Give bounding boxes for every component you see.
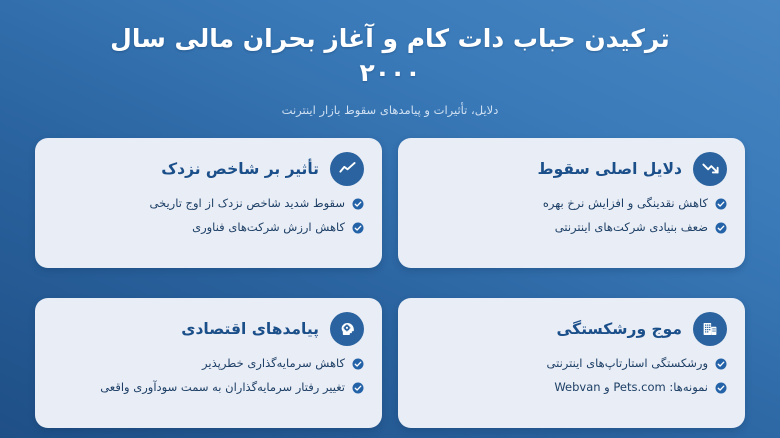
list-item: تغییر رفتار سرمایه‌گذاران به سمت سودآوری… <box>100 380 364 396</box>
card-title: موج ورشکستگی <box>557 320 683 339</box>
mind-gear-icon <box>330 312 364 346</box>
check-circle-icon <box>352 382 364 394</box>
list-item-text: ضعف بنیادی شرکت‌های اینترنتی <box>555 220 708 236</box>
list-item: نمونه‌ها: Pets.com و Webvan <box>554 380 727 396</box>
list-item-text: تغییر رفتار سرمایه‌گذاران به سمت سودآوری… <box>100 380 345 396</box>
check-circle-icon <box>715 358 727 370</box>
infographic-poster: ترکیدن حباب دات کام و آغاز بحران مالی سا… <box>0 0 780 438</box>
card-main-causes[interactable]: دلایل اصلی سقوط کاهش نقدینگی و افزایش نر… <box>398 138 745 268</box>
cards-grid: دلایل اصلی سقوط کاهش نقدینگی و افزایش نر… <box>35 138 745 428</box>
card-economic-consequences[interactable]: پیامدهای اقتصادی کاهش سرمایه‌گذاری خطرپذ… <box>35 298 382 428</box>
list-item: کاهش نقدینگی و افزایش نرخ بهره <box>543 196 727 212</box>
list-item-text: ورشکستگی استارتاپ‌های اینترنتی <box>547 356 708 372</box>
card-header: تأثیر بر شاخص نزدک <box>53 152 364 186</box>
list-item: کاهش ارزش شرکت‌های فناوری <box>192 220 364 236</box>
list-item-text: نمونه‌ها: Pets.com و Webvan <box>554 380 708 396</box>
check-circle-icon <box>715 222 727 234</box>
check-circle-icon <box>715 198 727 210</box>
line-chart-icon <box>330 152 364 186</box>
check-circle-icon <box>352 222 364 234</box>
page-subtitle: دلایل، تأثیرات و پیامدهای سقوط بازار این… <box>40 103 740 118</box>
card-title: پیامدهای اقتصادی <box>181 320 319 339</box>
check-circle-icon <box>715 382 727 394</box>
card-bullet-list: کاهش سرمایه‌گذاری خطرپذیر تغییر رفتار سر… <box>53 356 364 396</box>
list-item-text: کاهش ارزش شرکت‌های فناوری <box>192 220 345 236</box>
card-header: دلایل اصلی سقوط <box>416 152 727 186</box>
list-item: سقوط شدید شاخص نزدک از اوج تاریخی <box>149 196 364 212</box>
list-item: ضعف بنیادی شرکت‌های اینترنتی <box>555 220 727 236</box>
check-circle-icon <box>352 198 364 210</box>
card-nasdaq-impact[interactable]: تأثیر بر شاخص نزدک سقوط شدید شاخص نزدک ا… <box>35 138 382 268</box>
card-bankruptcy-wave[interactable]: موج ورشکستگی ورشکستگی استارتاپ‌های اینتر… <box>398 298 745 428</box>
list-item-text: کاهش سرمایه‌گذاری خطرپذیر <box>202 356 345 372</box>
card-header: موج ورشکستگی <box>416 312 727 346</box>
card-bullet-list: سقوط شدید شاخص نزدک از اوج تاریخی کاهش ا… <box>53 196 364 236</box>
card-header: پیامدهای اقتصادی <box>53 312 364 346</box>
card-bullet-list: ورشکستگی استارتاپ‌های اینترنتی نمونه‌ها:… <box>416 356 727 396</box>
card-bullet-list: کاهش نقدینگی و افزایش نرخ بهره ضعف بنیاد… <box>416 196 727 236</box>
poster-header: ترکیدن حباب دات کام و آغاز بحران مالی سا… <box>0 0 780 118</box>
page-title: ترکیدن حباب دات کام و آغاز بحران مالی سا… <box>40 22 740 89</box>
list-item-text: سقوط شدید شاخص نزدک از اوج تاریخی <box>149 196 345 212</box>
chart-down-icon <box>693 152 727 186</box>
card-title: تأثیر بر شاخص نزدک <box>161 160 319 179</box>
list-item: ورشکستگی استارتاپ‌های اینترنتی <box>547 356 727 372</box>
list-item-text: کاهش نقدینگی و افزایش نرخ بهره <box>543 196 708 212</box>
card-title: دلایل اصلی سقوط <box>538 160 682 179</box>
check-circle-icon <box>352 358 364 370</box>
list-item: کاهش سرمایه‌گذاری خطرپذیر <box>202 356 364 372</box>
building-icon <box>693 312 727 346</box>
